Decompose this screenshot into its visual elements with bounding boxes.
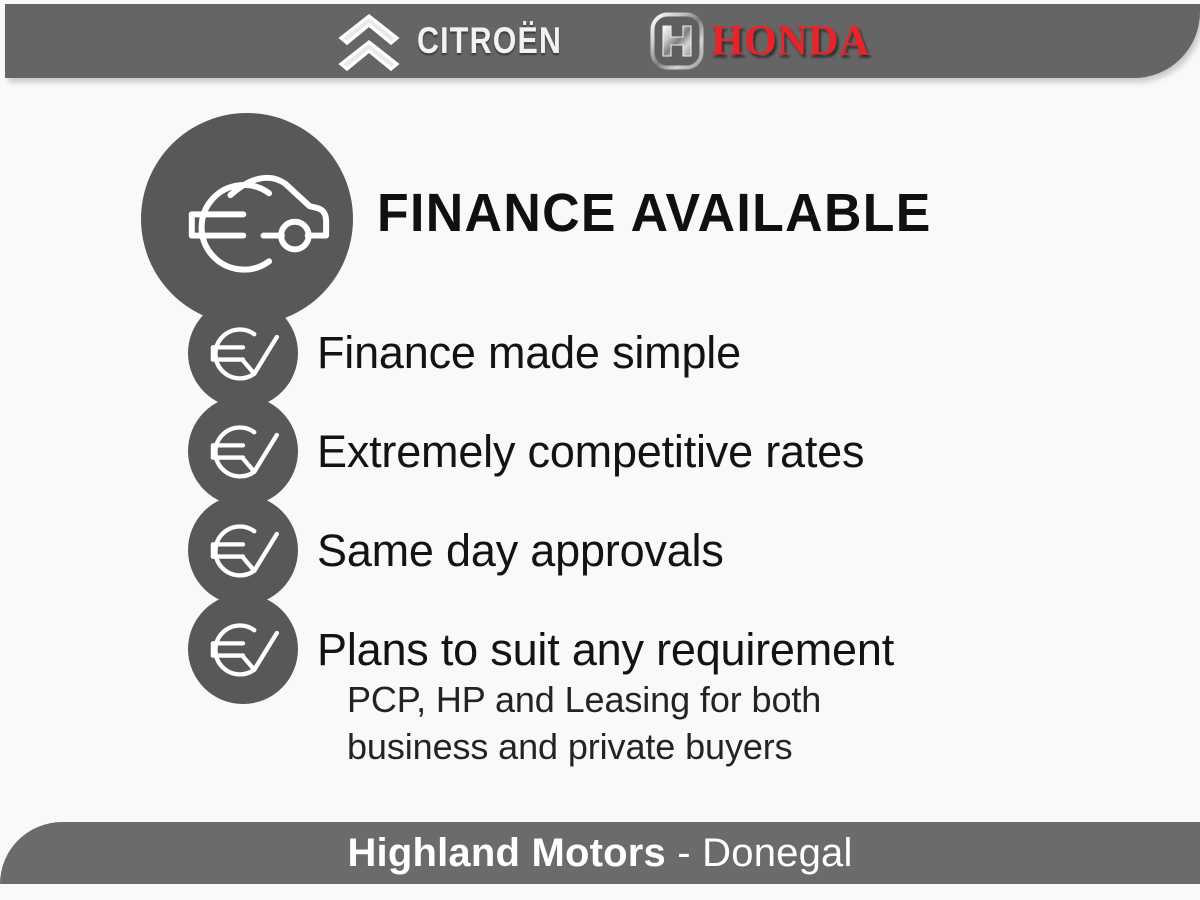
euro-check-icon (188, 495, 298, 605)
citroen-chevrons-icon (335, 11, 403, 71)
euro-check-icon (188, 396, 298, 506)
bullet-label-same-day-approvals: Same day approvals (317, 525, 724, 577)
honda-h-emblem-icon (650, 12, 704, 70)
honda-wordmark: HONDA (711, 17, 870, 66)
dealer-name: Highland Motors (347, 831, 666, 875)
dealer-name-line: Highland Motors - Donegal (347, 831, 852, 876)
brand-header-bar: CITROËN (5, 4, 1200, 78)
finance-available-poster: CITROËN (0, 0, 1200, 900)
euro-car-icon (141, 113, 353, 325)
euro-check-icon (188, 594, 298, 704)
dealer-separator: - (677, 831, 691, 875)
bullet-label-plans-any-requirement: Plans to suit any requirement (317, 624, 894, 676)
honda-logo-lockup: HONDA (650, 12, 870, 70)
bullet-label-finance-made-simple: Finance made simple (317, 327, 741, 379)
finance-plans-subtext: PCP, HP and Leasing for both business an… (347, 676, 907, 770)
bullet-label-competitive-rates: Extremely competitive rates (317, 426, 864, 478)
dealer-footer-bar: Highland Motors - Donegal (0, 822, 1200, 884)
citroen-wordmark: CITROËN (417, 20, 562, 62)
citroen-logo-lockup: CITROËN (335, 11, 594, 71)
page-title: FINANCE AVAILABLE (377, 182, 932, 244)
dealer-location: Donegal (702, 831, 852, 875)
